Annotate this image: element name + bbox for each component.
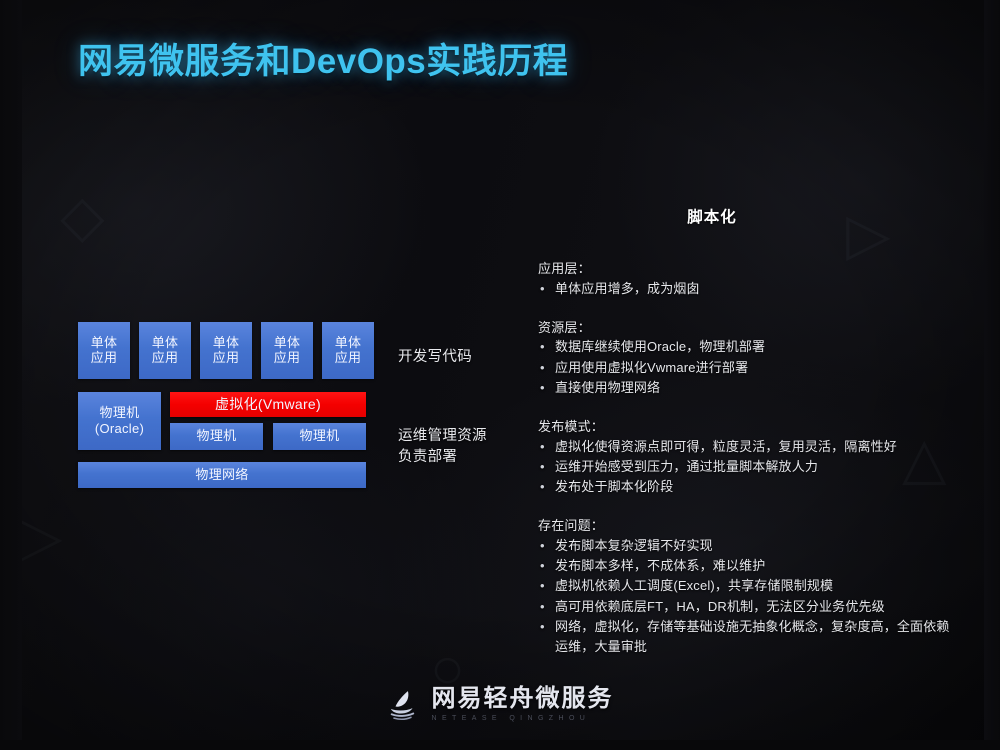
label-ops-line2: 负责部署 xyxy=(398,447,487,468)
monolithic-app-box: 单体 应用 xyxy=(200,322,252,379)
physical-machine-box: 物理机 xyxy=(273,423,366,450)
app-box-line2: 应用 xyxy=(152,351,179,366)
bullet-item: 数据库继续使用Oracle，物理机部署 xyxy=(538,337,950,357)
application-layer-row: 单体 应用 单体 应用 单体 应用 单体 应用 xyxy=(78,322,366,379)
section-title: 存在问题： xyxy=(538,516,950,536)
app-box-line1: 单体 xyxy=(335,336,362,351)
watermark-glyph: ◇ xyxy=(60,188,105,246)
monolithic-app-box: 单体 应用 xyxy=(78,322,130,379)
bullet-item: 发布脚本复杂逻辑不好实现 xyxy=(538,536,950,556)
app-box-line2: 应用 xyxy=(213,351,240,366)
label-ops-manages-resources: 运维管理资源 负责部署 xyxy=(398,426,487,468)
section-title: 资源层： xyxy=(538,318,950,338)
text-section: 存在问题： 发布脚本复杂逻辑不好实现 发布脚本多样，不成体系，难以维护 虚拟机依… xyxy=(538,516,950,657)
architecture-diagram: 单体 应用 单体 应用 单体 应用 单体 应用 xyxy=(78,322,366,488)
section-bullet-list: 发布脚本复杂逻辑不好实现 发布脚本多样，不成体系，难以维护 虚拟机依赖人工调度(… xyxy=(538,536,950,658)
vmware-virtualization-box: 虚拟化(Vmware) xyxy=(170,392,366,417)
bullet-item: 发布脚本多样，不成体系，难以维护 xyxy=(538,556,950,576)
monolithic-app-box: 单体 应用 xyxy=(139,322,191,379)
bullet-item: 虚拟化使得资源点即可得，粒度灵活，复用灵活，隔离性好 xyxy=(538,437,950,457)
app-box-line1: 单体 xyxy=(152,336,179,351)
right-column-heading: 脚本化 xyxy=(538,205,886,227)
app-box-line2: 应用 xyxy=(91,351,118,366)
right-edge-band xyxy=(984,0,1000,750)
resource-layer-row: 物理机 (Oracle) 虚拟化(Vmware) 物理机 物理机 xyxy=(78,392,366,450)
monolithic-app-box: 单体 应用 xyxy=(261,322,313,379)
slide-title: 网易微服务和DevOps实践历程 xyxy=(78,33,568,84)
watermark-glyph: ▷ xyxy=(18,508,63,566)
sailboat-icon xyxy=(387,688,421,722)
bullet-item: 发布处于脚本化阶段 xyxy=(538,477,950,497)
section-title: 应用层： xyxy=(538,259,950,279)
oracle-box-line1: 物理机 xyxy=(100,405,140,420)
section-bullet-list: 单体应用增多，成为烟囱 xyxy=(538,279,950,299)
bullet-item: 单体应用增多，成为烟囱 xyxy=(538,279,950,299)
bullet-item: 网络，虚拟化，存储等基础设施无抽象化概念，复杂度高，全面依赖运维，大量审批 xyxy=(538,617,950,658)
slide-canvas: ◇ ▷ ▷ △ ○ 网易微服务和DevOps实践历程 单体 应用 单体 应用 xyxy=(0,0,1000,750)
bullet-item: 高可用依赖底层FT，HA，DR机制，无法区分业务优先级 xyxy=(538,597,950,617)
oracle-physical-machine-box: 物理机 (Oracle) xyxy=(78,392,161,450)
brand-name-en: NETEASE QINGZHOU xyxy=(432,715,614,722)
text-section: 应用层： 单体应用增多，成为烟囱 xyxy=(538,259,950,299)
text-section: 发布模式： 虚拟化使得资源点即可得，粒度灵活，复用灵活，隔离性好 运维开始感受到… xyxy=(538,417,950,497)
footer-logo: 网易轻舟微服务 NETEASE QINGZHOU xyxy=(0,687,1000,722)
app-box-line1: 单体 xyxy=(213,336,240,351)
left-edge-band xyxy=(0,0,22,750)
section-bullet-list: 虚拟化使得资源点即可得，粒度灵活，复用灵活，隔离性好 运维开始感受到压力，通过批… xyxy=(538,437,950,498)
bullet-item: 应用使用虚拟化Vwmare进行部署 xyxy=(538,358,950,378)
bullet-item: 直接使用物理网络 xyxy=(538,378,950,398)
physical-network-box: 物理网络 xyxy=(78,462,366,488)
physical-machine-box: 物理机 xyxy=(170,423,263,450)
virtualization-column: 虚拟化(Vmware) 物理机 物理机 xyxy=(170,392,366,450)
right-text-column: 脚本化 应用层： 单体应用增多，成为烟囱 资源层： 数据库继续使用Oracle，… xyxy=(538,205,950,657)
app-box-line2: 应用 xyxy=(274,351,301,366)
section-title: 发布模式： xyxy=(538,417,950,437)
app-box-line2: 应用 xyxy=(335,351,362,366)
section-bullet-list: 数据库继续使用Oracle，物理机部署 应用使用虚拟化Vwmare进行部署 直接… xyxy=(538,337,950,398)
oracle-box-line2: (Oracle) xyxy=(95,421,144,436)
physical-machine-row: 物理机 物理机 xyxy=(170,423,366,450)
brand-name-cn: 网易轻舟微服务 xyxy=(432,687,614,711)
label-developer-writes-code: 开发写代码 xyxy=(398,347,472,368)
text-section: 资源层： 数据库继续使用Oracle，物理机部署 应用使用虚拟化Vwmare进行… xyxy=(538,318,950,398)
logo-text-block: 网易轻舟微服务 NETEASE QINGZHOU xyxy=(432,687,614,722)
app-box-line1: 单体 xyxy=(274,336,301,351)
label-ops-line1: 运维管理资源 xyxy=(398,426,487,447)
bullet-item: 虚拟机依赖人工调度(Excel)，共享存储限制规模 xyxy=(538,576,950,596)
monolithic-app-box: 单体 应用 xyxy=(322,322,374,379)
bottom-edge-band xyxy=(0,740,1000,750)
app-box-line1: 单体 xyxy=(91,336,118,351)
bullet-item: 运维开始感受到压力，通过批量脚本解放人力 xyxy=(538,457,950,477)
